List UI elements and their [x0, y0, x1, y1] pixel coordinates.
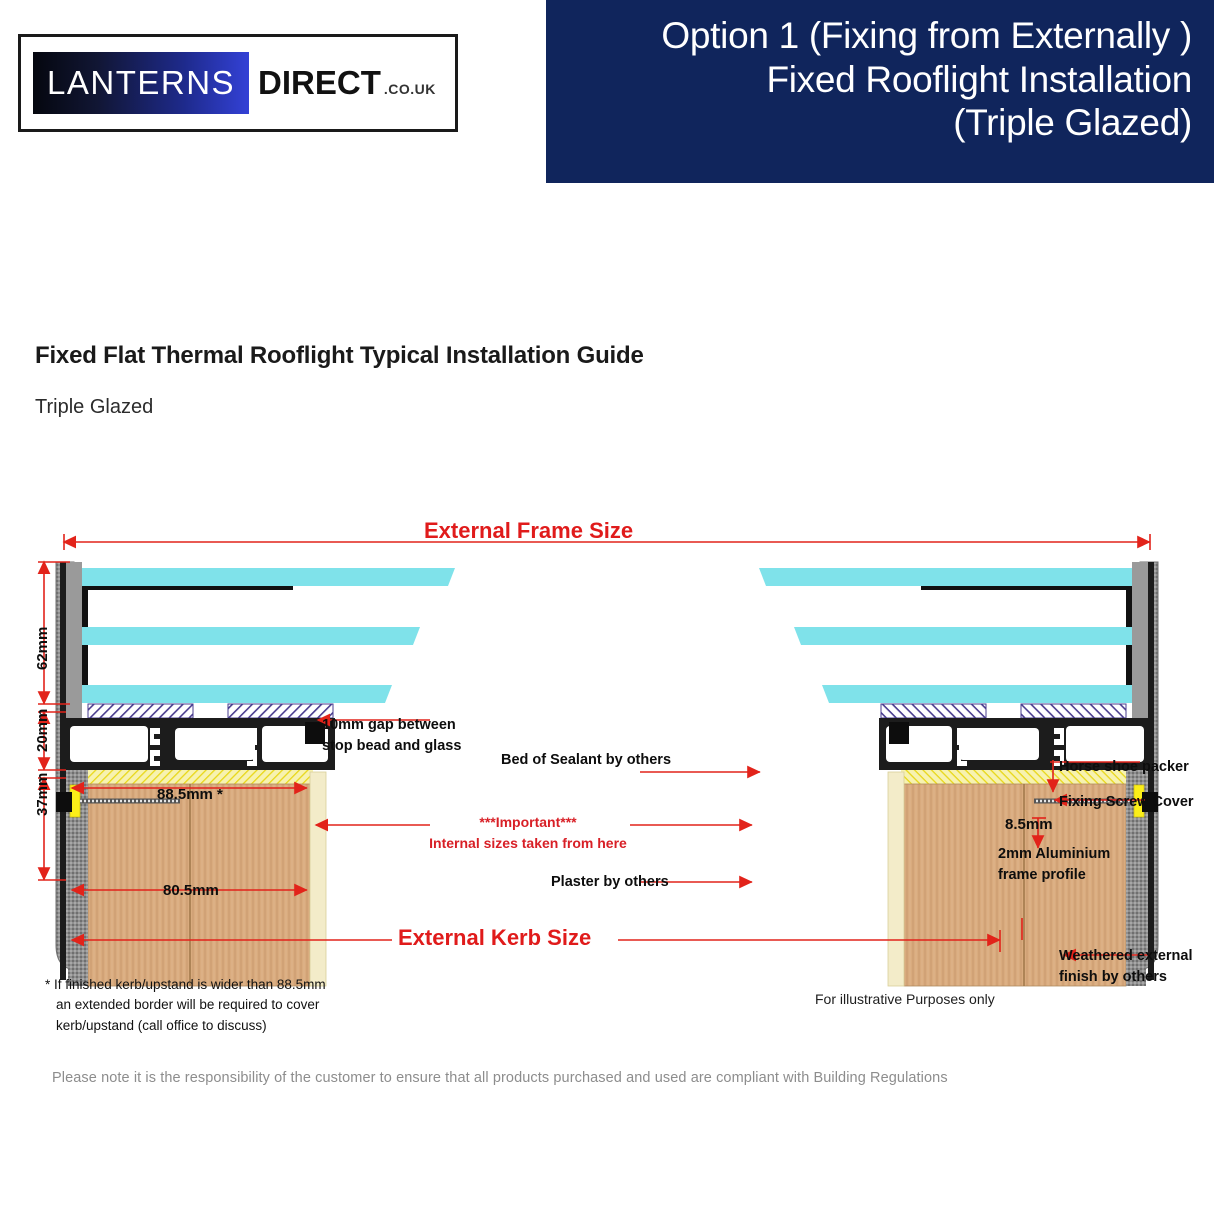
setting-block-a-left	[88, 704, 193, 718]
company-logo[interactable]: LANTERNS DIRECT .CO.UK	[18, 34, 458, 132]
annotation-stop-bead-gap-line2: stop bead and glass	[322, 736, 472, 757]
annotation-horse-shoe-packer: Horse shoe packer	[1059, 757, 1189, 778]
frame-outer-edge-left	[60, 562, 66, 980]
footer-disclaimer: Please note it is the responsibility of …	[52, 1070, 948, 1086]
annotation-fixing-screw-cover: Fixing Screw Cover	[1059, 792, 1194, 813]
setting-block-a-right	[1021, 704, 1126, 718]
glass-spacer-lower-left	[82, 645, 88, 685]
dimension-37mm: 37mm	[34, 773, 51, 816]
annotation-plaster: Plaster by others	[551, 872, 669, 893]
glass-edge-seal-left	[88, 586, 293, 590]
illustrative-purposes-note: For illustrative Purposes only	[815, 991, 995, 1007]
label-external-kerb-size: External Kerb Size	[398, 925, 591, 951]
diagram-footnote-line2: an extended border will be required to c…	[45, 995, 375, 1015]
annotation-weathered-finish: Weathered external finish by others	[1059, 946, 1209, 988]
annotation-aluminium-frame-profile: 2mm Aluminium frame profile	[998, 844, 1148, 886]
annotation-weathered-line1: Weathered external	[1059, 946, 1209, 967]
annotation-aluminium-line1: 2mm Aluminium	[998, 844, 1148, 865]
glass-pane-inner-left	[82, 685, 392, 703]
logo-lanterns-text: LANTERNS	[47, 64, 235, 102]
annotation-important-body: Internal sizes taken from here	[428, 833, 628, 854]
setting-block-b-right	[881, 704, 986, 718]
dimension-20mm: 20mm	[34, 709, 51, 752]
annotation-weathered-line2: finish by others	[1059, 967, 1209, 988]
page-subtitle: Triple Glazed	[35, 396, 153, 419]
glass-spacer-lower-right	[1126, 645, 1132, 685]
footnote-asterisk: *	[217, 786, 223, 803]
diagram-footnote-line3: kerb/upstand (call office to discuss)	[45, 1016, 375, 1036]
plaster-band-left	[310, 772, 326, 986]
fixing-screw-cover-left	[56, 792, 72, 812]
logo-lanterns-block: LANTERNS	[33, 52, 249, 114]
page-header: LANTERNS DIRECT .CO.UK Option 1 (Fixing …	[0, 0, 1214, 190]
banner-line-2: Fixed Rooflight Installation	[568, 58, 1192, 102]
glass-pane-outer-left	[82, 568, 455, 586]
annotation-aluminium-line2: frame profile	[998, 865, 1148, 886]
plaster-band-right	[888, 772, 904, 986]
glass-spacer-upper-right	[1126, 586, 1132, 627]
setting-block-b-left	[228, 704, 333, 718]
glass-pane-inner-right	[822, 685, 1132, 703]
dimension-62mm: 62mm	[34, 627, 51, 670]
dimension-8-5mm: 8.5mm	[1005, 816, 1053, 833]
logo-direct-text: DIRECT	[258, 64, 381, 102]
annotation-important-note: ***Important*** Internal sizes taken fro…	[428, 812, 628, 854]
annotation-stop-bead-gap: 10mm gap between stop bead and glass	[322, 715, 472, 757]
glass-pane-outer-right	[759, 568, 1132, 586]
page-title: Fixed Flat Thermal Rooflight Typical Ins…	[35, 342, 644, 370]
banner-line-3: (Triple Glazed)	[568, 101, 1192, 145]
dimension-88-5mm: 88.5mm *	[157, 786, 223, 803]
stop-bead-right	[889, 722, 909, 744]
banner-line-1: Option 1 (Fixing from Externally )	[568, 14, 1192, 58]
logo-tld-text: .CO.UK	[384, 81, 436, 97]
glass-spacer-upper-left	[82, 586, 88, 627]
diagram-footnote: * If finished kerb/upstand is wider than…	[45, 975, 375, 1036]
annotation-stop-bead-gap-line1: 10mm gap between	[322, 715, 472, 736]
sealant-bed-left	[78, 770, 313, 784]
aluminium-frame-profile-left	[60, 718, 335, 770]
glass-edge-seal-right	[921, 586, 1126, 590]
annotation-bed-of-sealant: Bed of Sealant by others	[501, 750, 671, 771]
dimension-88-5mm-value: 88.5mm	[157, 786, 213, 803]
logo-direct-block: DIRECT .CO.UK	[258, 64, 436, 102]
dimension-80-5mm: 80.5mm	[163, 882, 219, 899]
label-external-frame-size: External Frame Size	[424, 518, 633, 544]
diagram-footnote-line1: * If finished kerb/upstand is wider than…	[45, 975, 375, 995]
annotation-important-title: ***Important***	[428, 812, 628, 833]
option-banner: Option 1 (Fixing from Externally ) Fixed…	[546, 0, 1214, 183]
glass-pane-middle-right	[794, 627, 1132, 645]
glass-pane-middle-left	[82, 627, 420, 645]
